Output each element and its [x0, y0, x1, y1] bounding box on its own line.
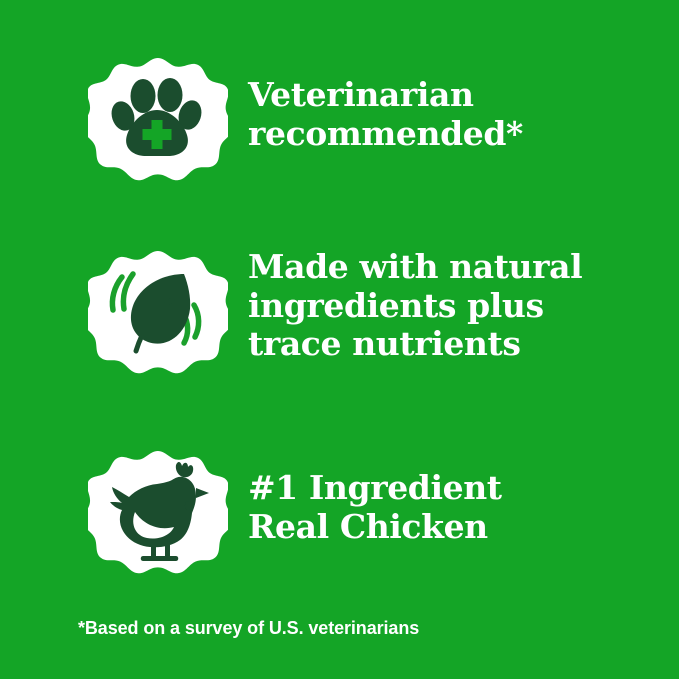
- feature-line: Real Chicken: [248, 508, 639, 547]
- feature-text-veterinarian: Veterinarian recommended*: [248, 50, 679, 153]
- feature-row-veterinarian: Veterinarian recommended*: [0, 50, 679, 190]
- feature-text-chicken: #1 Ingredient Real Chicken: [248, 443, 679, 546]
- badge-natural-ingredients: [88, 243, 228, 383]
- feature-line: Veterinarian: [248, 76, 639, 115]
- leaf-with-motion-lines-icon: [88, 243, 228, 383]
- feature-line: trace nutrients: [248, 325, 639, 364]
- paw-with-medical-cross-icon: [88, 50, 228, 190]
- feature-text-natural-ingredients: Made with natural ingredients plus trace…: [248, 243, 679, 364]
- feature-line: ingredients plus: [248, 287, 639, 326]
- feature-line: Made with natural: [248, 248, 639, 287]
- badge-chicken: [88, 443, 228, 583]
- footnote-text: *Based on a survey of U.S. veterinarians: [78, 618, 419, 639]
- feature-row-chicken: #1 Ingredient Real Chicken: [0, 443, 679, 583]
- feature-line: recommended*: [248, 115, 639, 154]
- chicken-icon: [88, 443, 228, 583]
- promo-panel: Veterinarian recommended* Made with natu…: [0, 0, 679, 679]
- badge-veterinarian: [88, 50, 228, 190]
- feature-line: #1 Ingredient: [248, 469, 639, 508]
- feature-row-natural-ingredients: Made with natural ingredients plus trace…: [0, 243, 679, 383]
